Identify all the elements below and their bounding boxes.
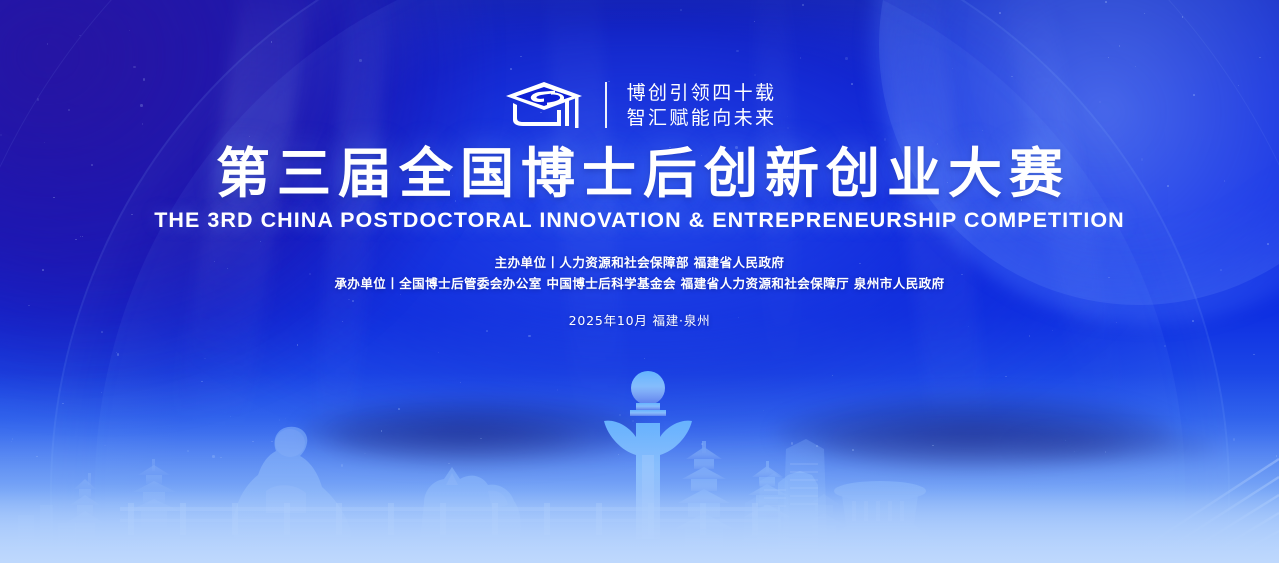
logo-lockup: 博创引领四十载 智汇赋能向未来 xyxy=(503,80,777,130)
logo-divider xyxy=(605,82,607,128)
organizer-line-host: 主办单位丨人力资源和社会保障部 福建省人民政府 xyxy=(334,252,944,273)
graduation-cap-logo-icon xyxy=(503,80,585,130)
page-title-english: THE 3RD CHINA POSTDOCTORAL INNOVATION & … xyxy=(154,208,1124,233)
page-title-chinese: 第三届全国博士后创新创业大赛 xyxy=(209,144,1070,204)
competition-banner: 博创引领四十载 智汇赋能向未来 第三届全国博士后创新创业大赛 THE 3RD C… xyxy=(0,0,1279,563)
logo-slogan: 博创引领四十载 智汇赋能向未来 xyxy=(627,82,777,129)
slogan-line-2: 智汇赋能向未来 xyxy=(627,107,777,129)
slogan-line-1: 博创引领四十载 xyxy=(627,82,777,104)
organizer-line-co-host: 承办单位丨全国博士后管委会办公室 中国博士后科学基金会 福建省人力资源和社会保障… xyxy=(334,273,944,294)
date-location: 2025年10月 福建·泉州 xyxy=(569,310,711,329)
city-skyline-silhouette xyxy=(0,363,1279,563)
banner-content: 博创引领四十载 智汇赋能向未来 第三届全国博士后创新创业大赛 THE 3RD C… xyxy=(0,0,1279,329)
organizers-block: 主办单位丨人力资源和社会保障部 福建省人民政府 承办单位丨全国博士后管委会办公室… xyxy=(334,252,944,294)
